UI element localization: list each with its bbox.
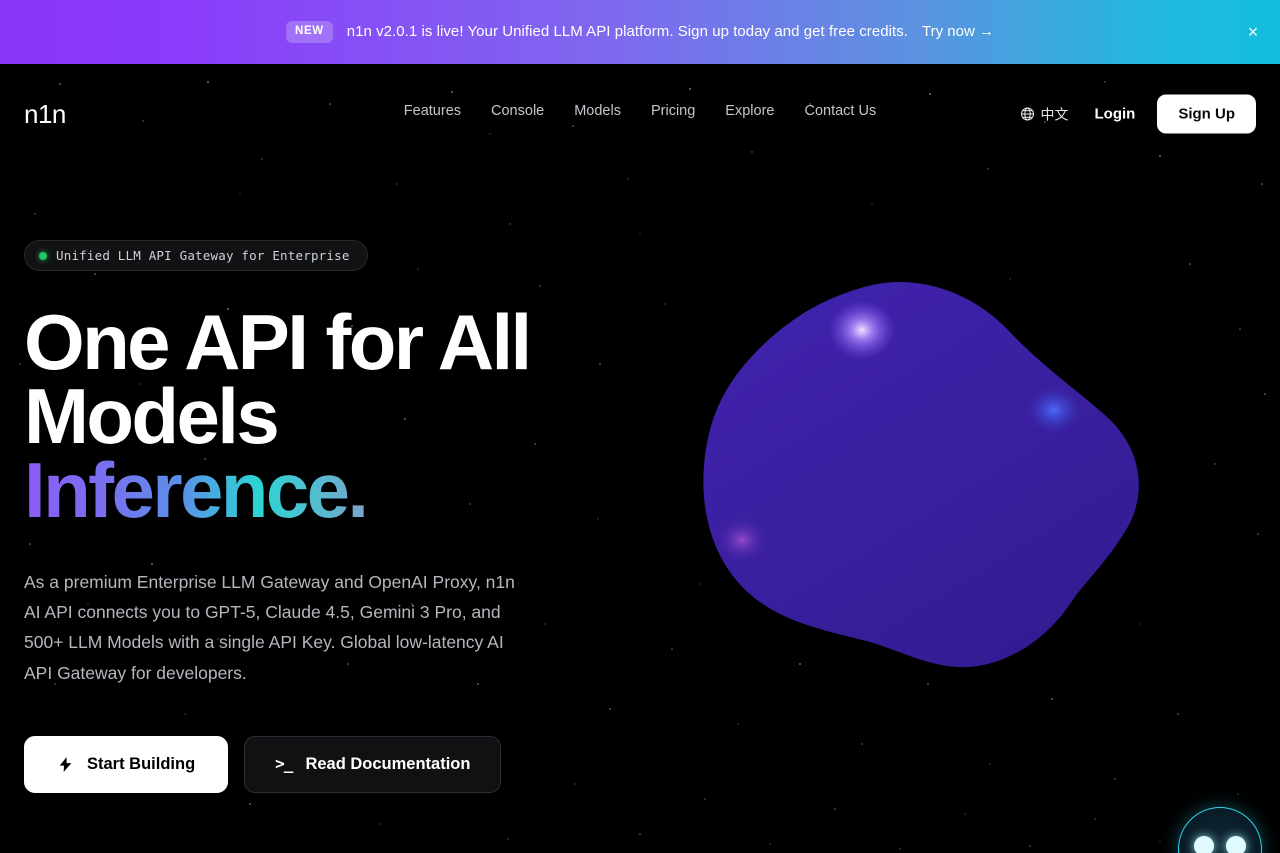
announcement-message: n1n v2.0.1 is live! Your Unified LLM API… <box>347 23 908 40</box>
hero-status-badge: Unified LLM API Gateway for Enterprise <box>24 240 368 271</box>
page-title: One API for All Models Inference. <box>24 305 544 527</box>
nav-item-models[interactable]: Models <box>574 103 621 119</box>
language-label: 中文 <box>1041 104 1069 124</box>
status-dot-icon <box>39 252 47 260</box>
hero-cta-group: Start Building >_ Read Documentation <box>24 736 664 793</box>
hero-section: Unified LLM API Gateway for Enterprise O… <box>24 240 664 793</box>
close-icon[interactable]: × <box>1240 19 1266 45</box>
hero-badge-label: Unified LLM API Gateway for Enterprise <box>56 248 350 263</box>
nav-item-pricing[interactable]: Pricing <box>651 103 695 119</box>
nav-item-contact-us[interactable]: Contact Us <box>804 103 876 119</box>
read-documentation-button[interactable]: >_ Read Documentation <box>244 736 501 793</box>
terminal-prompt-icon: >_ <box>275 756 292 772</box>
lightning-bolt-icon <box>57 755 74 774</box>
start-building-label: Start Building <box>87 755 195 774</box>
language-switcher[interactable]: 中文 <box>1008 98 1081 130</box>
hero-title-accent: Inference. <box>24 453 544 527</box>
announcement-banner: NEW n1n v2.0.1 is live! Your Unified LLM… <box>0 0 1280 64</box>
read-documentation-label: Read Documentation <box>305 755 470 774</box>
login-link[interactable]: Login <box>1081 100 1150 129</box>
new-badge: NEW <box>286 21 333 43</box>
nav-links: Features Console Models Pricing Explore … <box>404 103 876 119</box>
hero-description: As a premium Enterprise LLM Gateway and … <box>24 567 534 687</box>
site-logo[interactable]: n1n <box>24 101 66 127</box>
nav-item-explore[interactable]: Explore <box>725 103 774 119</box>
start-building-button[interactable]: Start Building <box>24 736 228 793</box>
purple-blob-decoration <box>686 268 1166 678</box>
nav-actions: 中文 Login Sign Up <box>1008 95 1257 134</box>
signup-button[interactable]: Sign Up <box>1157 95 1256 134</box>
try-now-link[interactable]: Try now → <box>922 23 994 40</box>
main-navigation: n1n Features Console Models Pricing Expl… <box>0 64 1280 164</box>
chat-avatar-eye-right-icon <box>1226 836 1246 853</box>
chat-widget-button[interactable] <box>1178 807 1262 853</box>
globe-icon <box>1020 107 1035 122</box>
chat-avatar-eye-left-icon <box>1194 836 1214 853</box>
nav-item-console[interactable]: Console <box>491 103 544 119</box>
announcement-content: NEW n1n v2.0.1 is live! Your Unified LLM… <box>286 21 994 43</box>
nav-item-features[interactable]: Features <box>404 103 461 119</box>
page-root: NEW n1n v2.0.1 is live! Your Unified LLM… <box>0 0 1280 853</box>
